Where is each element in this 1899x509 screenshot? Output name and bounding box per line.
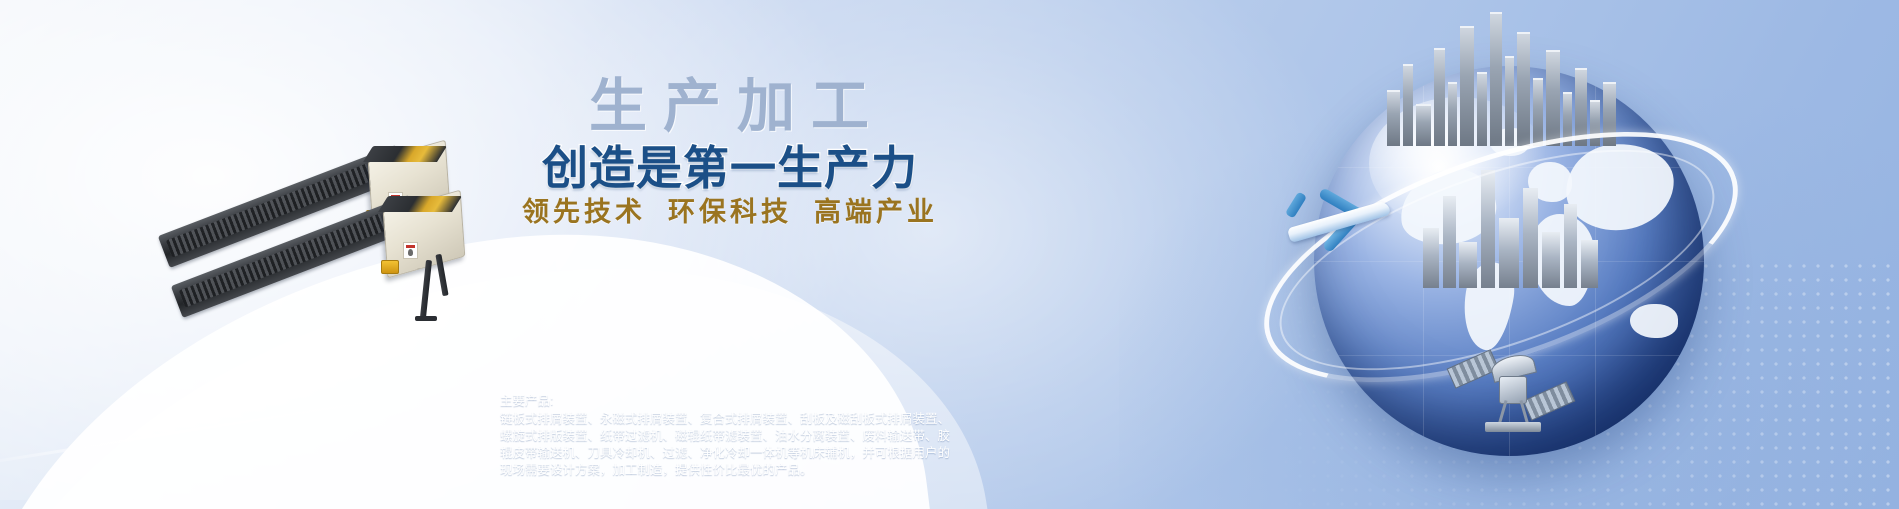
satellite-body <box>1499 376 1527 404</box>
globe-graphic <box>1259 6 1729 486</box>
products-body: 链板式排屑装置、永磁式排屑装置、复合式排屑装置、刮板及磁刮板式排屑装置、螺旋式排… <box>500 411 955 479</box>
satellite-base <box>1485 422 1541 432</box>
conveyor-head-top <box>378 196 462 212</box>
satellite-icon <box>1439 336 1589 466</box>
promo-banner: 生产加工 创造是第一生产力 领先技术环保科技高端产业 主要产品: 链板式排屑装置… <box>0 0 1899 509</box>
yellow-control-box <box>381 260 399 274</box>
products-heading: 主要产品: <box>500 393 955 410</box>
banner-tag-1: 领先技术 <box>522 197 646 227</box>
conveyor-head-top <box>363 146 447 162</box>
airplane-icon <box>1277 184 1397 254</box>
airplane-tail <box>1285 191 1307 218</box>
satellite-solar-panel <box>1523 381 1576 421</box>
banner-title-main: 生产加工 <box>495 78 965 136</box>
support-foot <box>415 316 437 321</box>
products-description: 主要产品: 链板式排屑装置、永磁式排屑装置、复合式排屑装置、刮板及磁刮板式排屑装… <box>500 393 955 479</box>
warning-label <box>403 242 418 259</box>
banner-tag-3: 高端产业 <box>814 197 938 227</box>
continent-australia <box>1630 304 1678 338</box>
banner-title-sub: 创造是第一生产力 <box>495 144 965 192</box>
headline-block: 生产加工 创造是第一生产力 领先技术环保科技高端产业 <box>495 78 965 228</box>
banner-tag-list: 领先技术环保科技高端产业 <box>495 198 965 228</box>
banner-tag-2: 环保科技 <box>668 197 792 227</box>
chip-conveyor-machine-2 <box>175 196 475 361</box>
